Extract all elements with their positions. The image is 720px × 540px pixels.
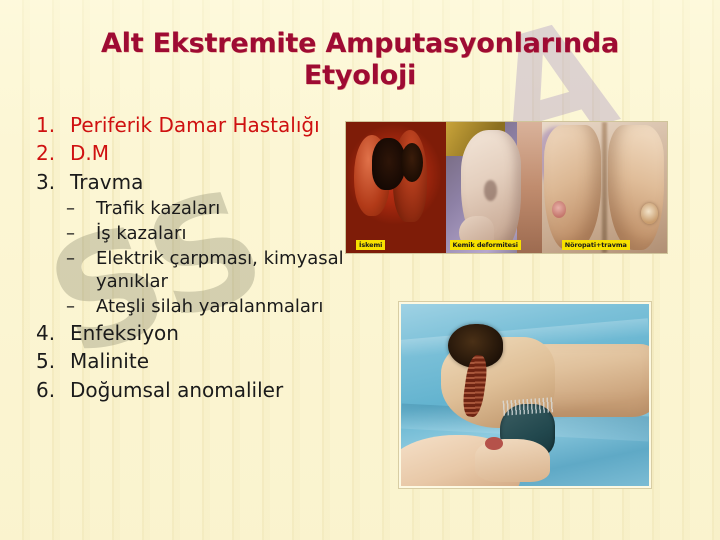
list-item-marker: 2.: [26, 140, 70, 166]
photo-neuropathy-heel-left: [544, 125, 600, 251]
list-item-marker: 4.: [26, 320, 70, 346]
surgical-clamp-teeth: [502, 397, 552, 415]
photo-bone-deformity: Kemik deformitesi: [446, 122, 542, 253]
list-item: 3. Travma: [26, 169, 346, 195]
list-item: – Ateşli silah yaralanmaları: [26, 295, 346, 319]
photo-caption-neuropathy-trauma: Nöropati+travma: [562, 240, 630, 250]
photo-neuropathy-trauma: Nöropati+travma: [542, 122, 667, 253]
list-item-label: Doğumsal anomaliler: [70, 377, 346, 403]
list-item-marker: –: [26, 197, 88, 221]
list-item-label: Trafik kazaları: [88, 197, 346, 221]
list-item-label: Malinite: [70, 348, 346, 374]
list-item-marker: –: [26, 247, 88, 271]
photo-ischemia: İskemi: [346, 122, 446, 253]
photo-bone-deformity-lesion: [484, 180, 497, 201]
list-item-marker: 5.: [26, 348, 70, 374]
list-item-marker: –: [26, 295, 88, 319]
list-item-marker: 1.: [26, 112, 70, 138]
amputation-clinical-photo: [399, 302, 651, 488]
list-item-label: Periferik Damar Hastalığı: [70, 112, 346, 138]
list-item-marker: 6.: [26, 377, 70, 403]
photo-neuropathy-heel-gap: [602, 122, 607, 253]
diabetic-foot-photo-strip: İskemi Kemik deformitesi Nöropati+travma: [345, 121, 668, 254]
list-item-label: İş kazaları: [88, 222, 346, 246]
list-item-marker: –: [26, 222, 88, 246]
list-item-label: Travma: [70, 169, 346, 195]
list-item-label: Elektrik çarpması, kimyasal yanıklar: [88, 247, 346, 295]
list-item-label: Ateşli silah yaralanmaları: [88, 295, 346, 319]
photo-caption-bone-deformity: Kemik deformitesi: [450, 240, 521, 250]
photo-ischemia-necrosis-secondary: [401, 143, 423, 182]
photo-neuropathy-heel-right: [608, 125, 664, 251]
presentation-slide: SS A Alt Ekstremite Amputasyonlarında Et…: [0, 0, 720, 540]
list-item: – Elektrik çarpması, kimyasal yanıklar: [26, 247, 346, 295]
list-item: 1. Periferik Damar Hastalığı: [26, 112, 346, 138]
etiology-list: 1. Periferik Damar Hastalığı 2. D.M 3. T…: [26, 112, 346, 405]
list-item: 4. Enfeksiyon: [26, 320, 346, 346]
list-item: 5. Malinite: [26, 348, 346, 374]
photo-caption-ischemia: İskemi: [356, 240, 385, 250]
surgeon-fingernail: [485, 437, 502, 450]
photo-neuropathy-ulcer-left: [552, 201, 566, 218]
list-item: – Trafik kazaları: [26, 197, 346, 221]
list-item-label: D.M: [70, 140, 346, 166]
list-item-marker: 3.: [26, 169, 70, 195]
list-item: 2. D.M: [26, 140, 346, 166]
list-item: – İş kazaları: [26, 222, 346, 246]
list-item: 6. Doğumsal anomaliler: [26, 377, 346, 403]
slide-title: Alt Ekstremite Amputasyonlarında Etyoloj…: [48, 28, 672, 92]
list-item-label: Enfeksiyon: [70, 320, 346, 346]
